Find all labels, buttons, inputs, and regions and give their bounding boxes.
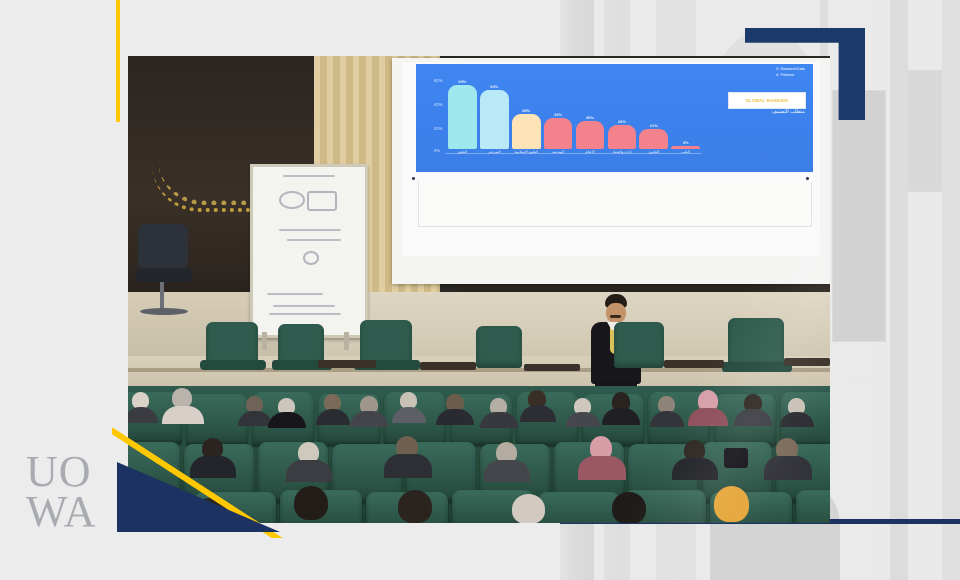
poster-canvas: 60% 40% 20% 0% 69%العلوم64%التمريض38%الع… — [0, 0, 960, 580]
chart-bar-label: ادارة واقتصاد — [612, 150, 632, 154]
chart-bar — [576, 121, 605, 148]
office-chair-seat — [136, 268, 192, 282]
legend-item-5: 5. ResearchGate — [776, 67, 805, 73]
chart-bar-label: الاعلام — [585, 150, 595, 154]
slide-highlight-box: GLOBAL RANKING — [728, 92, 806, 109]
slide-legend: 5. ResearchGate 6. Publons — [776, 67, 805, 78]
chart-bar-group: 64%التمريض — [480, 78, 509, 154]
chart-bar-value: 26% — [618, 119, 626, 124]
chart-bar-group: 26%ادارة واقتصاد — [608, 78, 637, 154]
chart-bar — [608, 125, 637, 149]
chart-bar — [480, 90, 509, 149]
y-tick-0: 0% — [434, 148, 440, 153]
chart-bar-label: الهندسة — [552, 150, 564, 154]
chart-bar-label: الطب — [681, 150, 690, 154]
chart-bar-label: العلوم الاسلامية — [515, 150, 538, 154]
chart-bars-container: 69%العلوم64%التمريض38%العلوم الاسلامية33… — [448, 78, 700, 154]
chart-bar-value: 21% — [650, 123, 658, 128]
chart-bar-group: 3%الطب — [671, 78, 700, 154]
chart-bar-group: 33%الهندسة — [544, 78, 573, 154]
chart-bar — [544, 118, 573, 148]
handbag — [724, 448, 748, 468]
y-tick-60: 60% — [434, 78, 443, 83]
y-tick-40: 40% — [434, 102, 443, 107]
chart-bar-value: 3% — [683, 140, 689, 145]
chart-bar-label: التمريض — [488, 150, 501, 154]
projector-screen-lower-blank — [418, 182, 812, 227]
legend-item-6: 6. Publons — [776, 73, 805, 79]
logo-line-2: WA — [26, 492, 118, 532]
chart-bar-group: 69%العلوم — [448, 78, 477, 154]
slide-bar-chart: 60% 40% 20% 0% 69%العلوم64%التمريض38%الع… — [434, 70, 702, 164]
slide-caption-arabic: متطلب التصنيف — [772, 109, 805, 115]
slide-highlight-text: GLOBAL RANKING — [746, 98, 789, 103]
chart-bar — [512, 114, 541, 149]
chart-bar-group: 38%العلوم الاسلامية — [512, 78, 541, 154]
chart-bar-group: 21%القانون — [639, 78, 668, 154]
chart-bar-value: 69% — [458, 79, 466, 84]
chart-bar — [639, 129, 668, 148]
chart-bar-value: 30% — [586, 115, 594, 120]
office-chair-back — [138, 224, 188, 270]
stage-chair-row — [128, 314, 830, 394]
chart-bar-value: 38% — [522, 108, 530, 113]
whiteboard — [250, 164, 368, 338]
uowa-logo: UO WA — [26, 452, 118, 536]
chart-bar-group: 30%الاعلام — [576, 78, 605, 154]
chart-bar-label: القانون — [649, 150, 660, 154]
chart-bar — [671, 146, 700, 149]
chart-bar-value: 64% — [490, 84, 498, 89]
chart-bar — [448, 85, 477, 148]
chart-bar-label: العلوم — [458, 150, 467, 154]
y-tick-20: 20% — [434, 126, 443, 131]
presentation-slide: 60% 40% 20% 0% 69%العلوم64%التمريض38%الع… — [416, 64, 813, 172]
gold-vertical-rule — [116, 0, 120, 122]
screen-mount-dot-right — [806, 177, 809, 180]
screen-mount-dot-left — [412, 177, 415, 180]
chart-bar-value: 33% — [554, 112, 562, 117]
logo-line-1: UO — [26, 452, 118, 492]
